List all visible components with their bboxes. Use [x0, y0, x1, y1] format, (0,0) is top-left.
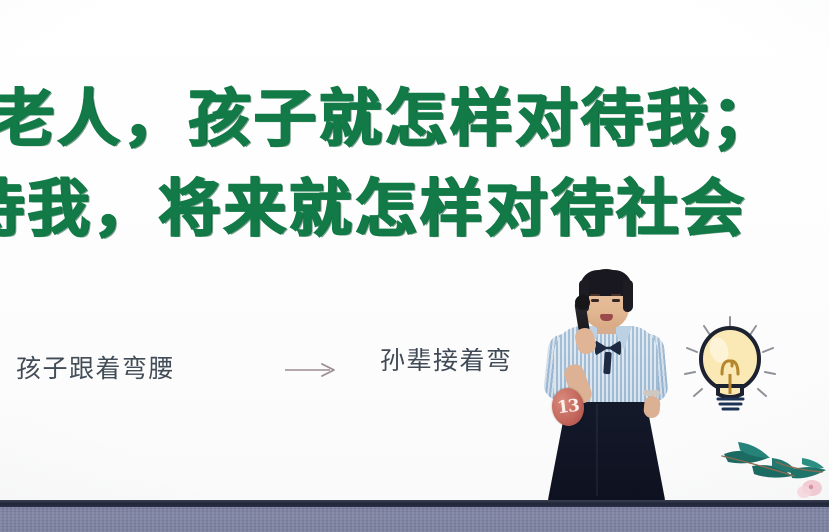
- right-arrow-icon: [284, 362, 340, 378]
- caption-left: 孩子跟着弯腰: [16, 356, 175, 381]
- speaker-hair-side-right: [623, 280, 633, 312]
- slide-headline-line-2: 待我，将来就怎样对待社会: [0, 178, 747, 240]
- projection-screen: [0, 0, 829, 504]
- contestant-number-text: 13: [556, 396, 580, 418]
- speaker-eye-right: [612, 299, 620, 302]
- speaker-person: 13: [524, 268, 690, 532]
- speaker-eye-left: [591, 299, 599, 302]
- stage-floor: [0, 507, 829, 532]
- speaker-skirt-fold: [596, 404, 598, 496]
- speaker-hand-right: [643, 395, 661, 418]
- lightbulb-icon: [676, 312, 784, 418]
- presentation-photo: 老人，孩子就怎样对待我； 待我，将来就怎样对待社会 孩子跟着弯腰 孙辈接着弯: [0, 0, 829, 532]
- slide-headline-line-2-text: 待我，将来就怎样对待社会: [0, 178, 747, 240]
- slide-headline-line-1-text: 老人，孩子就怎样对待我；: [0, 88, 777, 150]
- bamboo-leaves-illustration: [716, 432, 829, 502]
- speaker-mouth: [600, 314, 613, 321]
- speaker-eyebrow-right: [611, 294, 621, 296]
- slide-headline-line-1: 老人，孩子就怎样对待我；: [0, 88, 777, 150]
- speaker-eyebrow-left: [590, 294, 600, 296]
